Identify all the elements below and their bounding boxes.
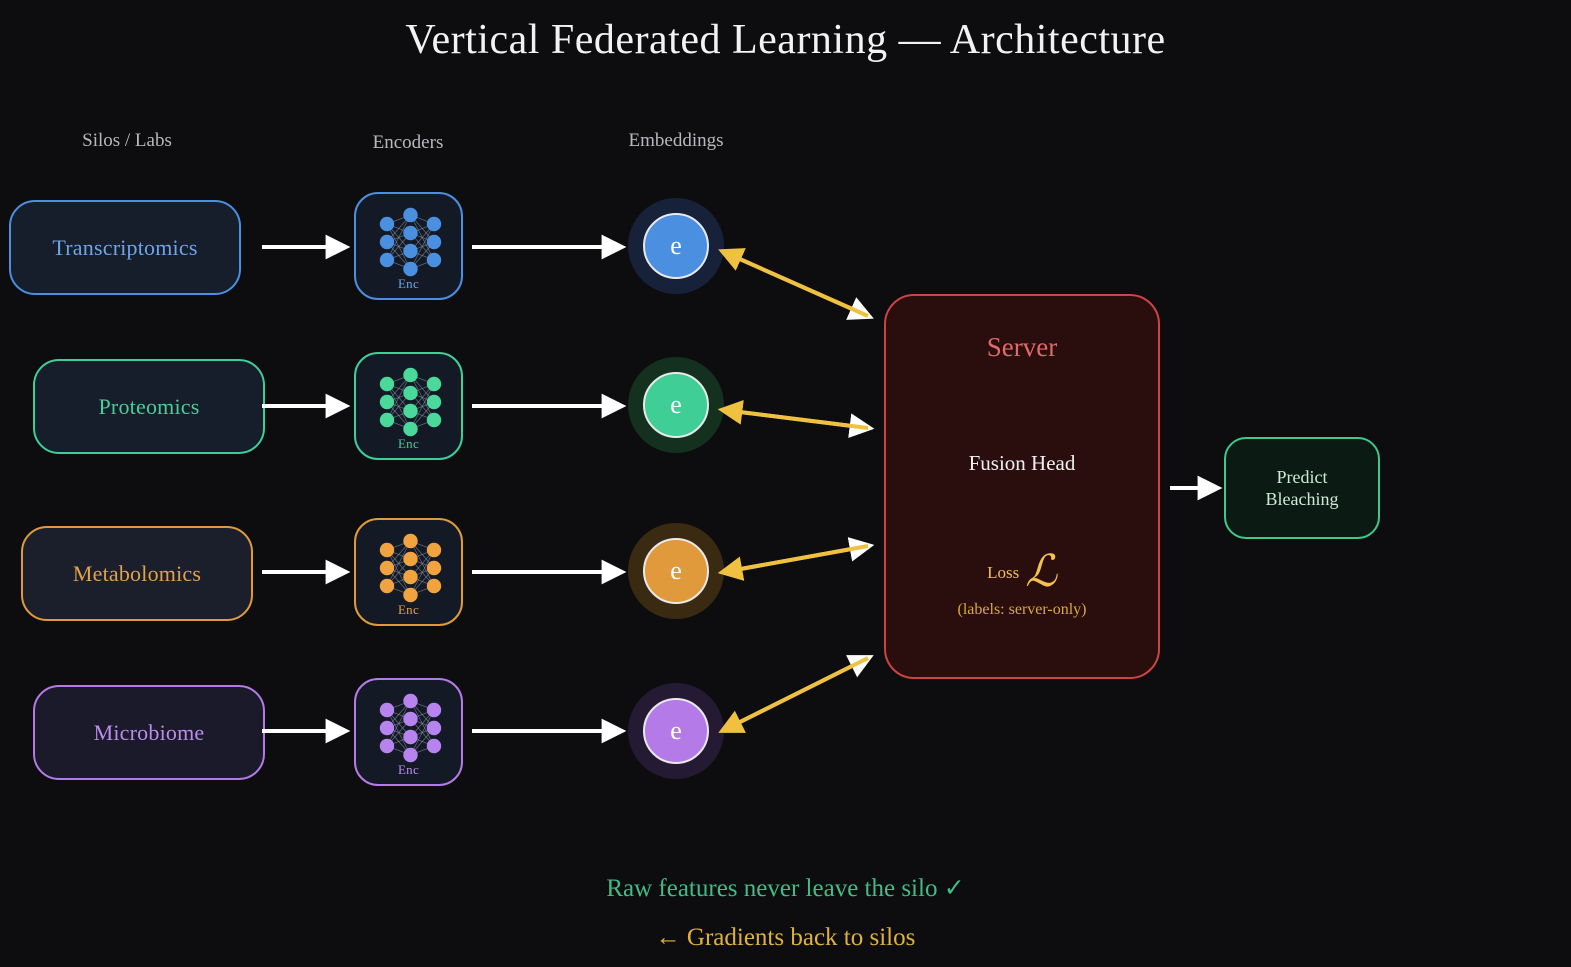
- embedding-label: e: [670, 718, 682, 744]
- silo-box-transcriptomics[interactable]: Transcriptomics: [9, 200, 241, 295]
- embedding-core: e: [643, 538, 709, 604]
- silo-label: Proteomics: [99, 394, 200, 420]
- fusion-head-label: Fusion Head: [886, 451, 1158, 476]
- loss-symbol: ℒ: [1025, 547, 1057, 596]
- encoder-label: Enc: [356, 602, 461, 618]
- encoder-box-transcriptomics[interactable]: Enc: [354, 192, 463, 300]
- predict-line-2: Bleaching: [1266, 488, 1339, 511]
- column-header-encoders: Encoders: [308, 132, 508, 154]
- encoder-box-proteomics[interactable]: Enc: [354, 352, 463, 460]
- encoder-label: Enc: [356, 436, 461, 452]
- page-title: Vertical Federated Learning — Architectu…: [0, 16, 1571, 64]
- gradient-note: ← Gradients back to silos: [0, 924, 1571, 952]
- embedding-node-transcriptomics[interactable]: e: [628, 198, 724, 294]
- labels-note: (labels: server-only): [886, 601, 1158, 619]
- embedding-node-microbiome[interactable]: e: [628, 683, 724, 779]
- arrow-embedding-to-server-proteomics: [724, 410, 868, 428]
- server-title: Server: [886, 332, 1158, 363]
- arrow-embedding-to-server-metabolomics: [724, 546, 868, 572]
- silo-box-metabolomics[interactable]: Metabolomics: [21, 526, 253, 621]
- silo-box-microbiome[interactable]: Microbiome: [33, 685, 265, 780]
- column-header-silos: Silos / Labs: [27, 130, 227, 152]
- embedding-node-proteomics[interactable]: e: [628, 357, 724, 453]
- silo-label: Transcriptomics: [52, 235, 197, 261]
- arrow-gradient-server-to-embedding-transcriptomics: [724, 252, 868, 316]
- embedding-core: e: [643, 213, 709, 279]
- arrow-gradient-server-to-embedding-metabolomics: [724, 546, 868, 572]
- embedding-label: e: [670, 233, 682, 259]
- privacy-note: Raw features never leave the silo ✓: [0, 873, 1571, 903]
- embedding-node-metabolomics[interactable]: e: [628, 523, 724, 619]
- embedding-core: e: [643, 698, 709, 764]
- predict-box[interactable]: Predict Bleaching: [1224, 437, 1380, 539]
- encoder-label: Enc: [356, 276, 461, 292]
- arrow-embedding-to-server-microbiome: [724, 658, 868, 730]
- embedding-label: e: [670, 558, 682, 584]
- arrow-gradient-server-to-embedding-proteomics: [724, 410, 868, 428]
- silo-label: Metabolomics: [73, 561, 201, 587]
- column-header-embeddings: Embeddings: [576, 130, 776, 152]
- predict-line-1: Predict: [1277, 466, 1328, 489]
- encoder-box-microbiome[interactable]: Enc: [354, 678, 463, 786]
- loss-label: Lossℒ: [886, 546, 1158, 597]
- encoder-label: Enc: [356, 762, 461, 778]
- silo-box-proteomics[interactable]: Proteomics: [33, 359, 265, 454]
- encoder-box-metabolomics[interactable]: Enc: [354, 518, 463, 626]
- embedding-core: e: [643, 372, 709, 438]
- silo-label: Microbiome: [94, 720, 205, 746]
- server-box[interactable]: Server Fusion Head Lossℒ (labels: server…: [884, 294, 1160, 679]
- arrow-embedding-to-server-transcriptomics: [724, 252, 868, 316]
- embedding-label: e: [670, 392, 682, 418]
- arrow-gradient-server-to-embedding-microbiome: [724, 658, 868, 730]
- loss-word: Loss: [987, 563, 1019, 582]
